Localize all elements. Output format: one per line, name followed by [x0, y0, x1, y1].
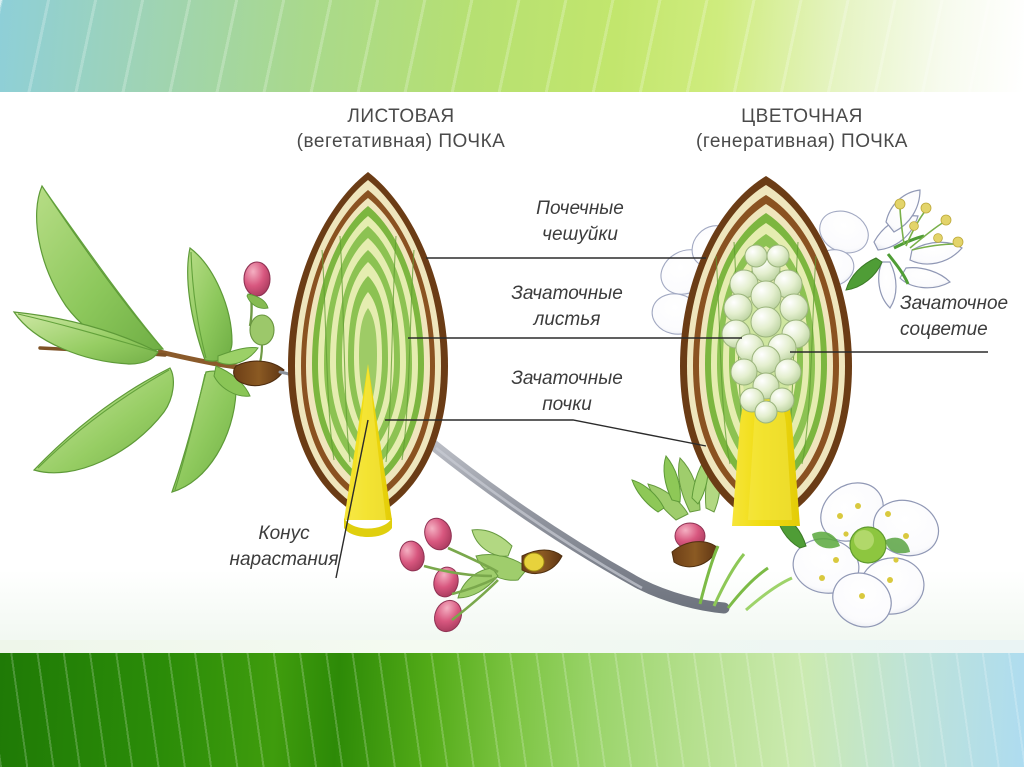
label-rudimentary-buds: Зачаточные почки [484, 366, 650, 418]
grass-tufts [700, 546, 792, 610]
title-vegetative-bud: ЛИСТОВАЯ (вегетативная) ПОЧКА [236, 104, 566, 154]
label-rudimentary-inflorescence: Зачаточное соцветие [900, 291, 1024, 343]
vegetative-bud-cross-section [288, 172, 448, 537]
title-generative-bud: ЦВЕТОЧНАЯ (генеративная) ПОЧКА [620, 104, 984, 154]
label-rudimentary-leaves: Зачаточные листья [484, 281, 650, 333]
leafy-branch [14, 186, 306, 492]
label-growth-cone: Конус нарастания [198, 521, 370, 573]
bud-cluster-left [397, 515, 562, 636]
label-bud-scales: Почечные чешуйки [500, 196, 660, 248]
slide-canvas: ЛИСТОВАЯ (вегетативная) ПОЧКА ЦВЕТОЧНАЯ … [0, 0, 1024, 767]
